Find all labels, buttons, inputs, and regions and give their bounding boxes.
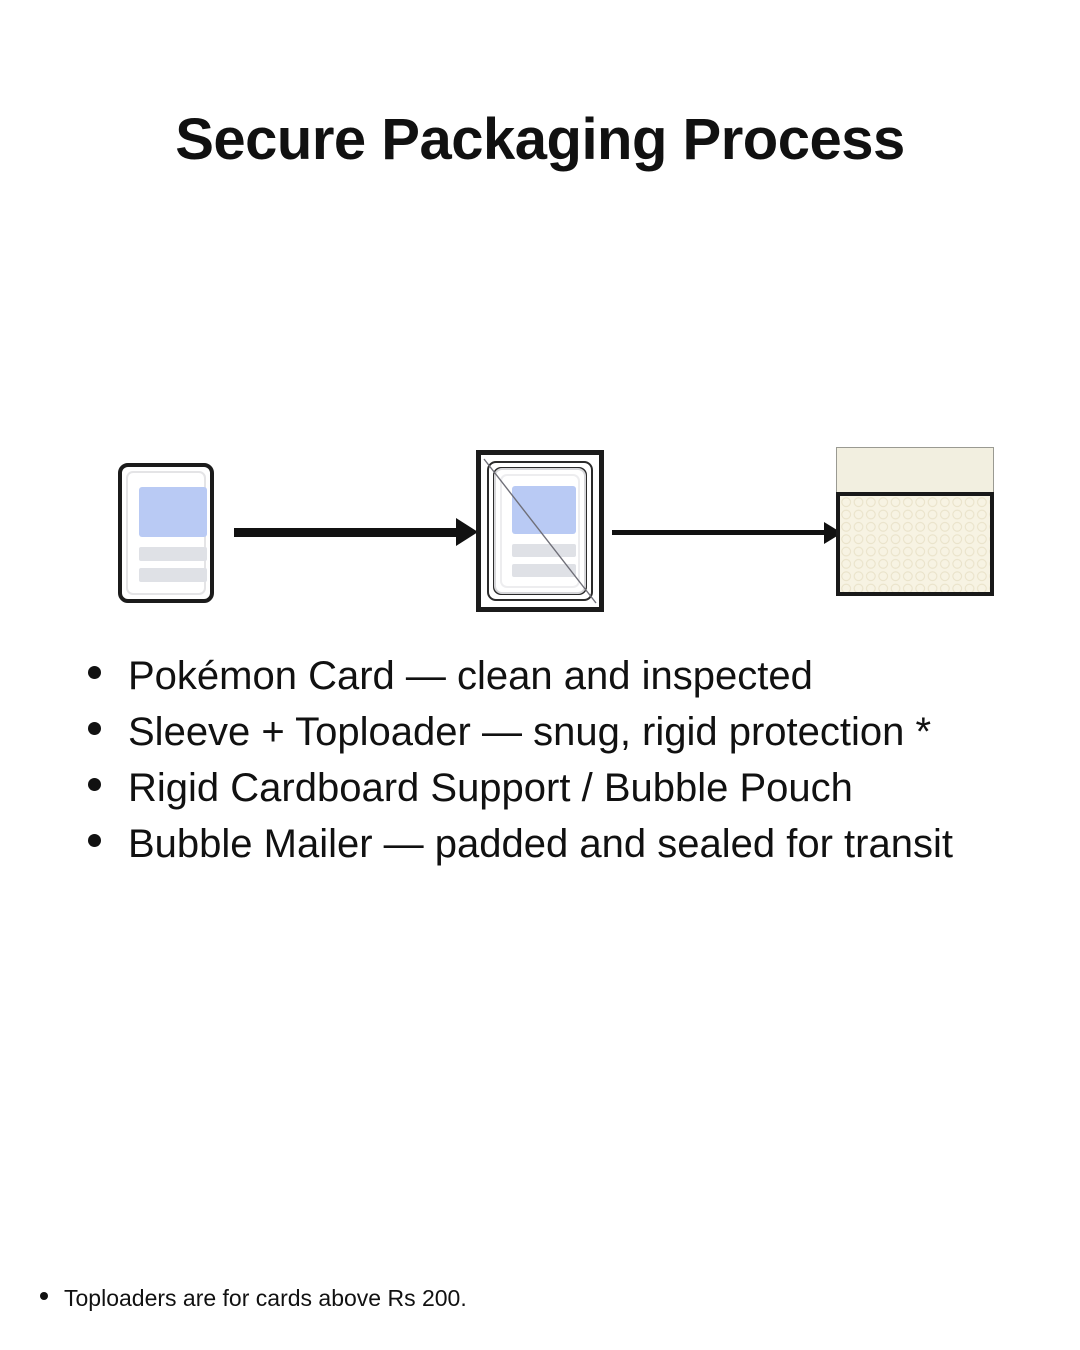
card-text-bar [512,544,576,557]
card-text-bar [139,568,207,582]
list-item: Bubble Mailer — padded and sealed for tr… [88,816,1048,872]
list-item: Sleeve + Toploader — snug, rigid protect… [88,704,1048,760]
card-text-bar [512,564,576,577]
packaging-steps-list: Pokémon Card — clean and inspected Sleev… [88,648,1048,872]
card-face [500,474,580,588]
list-item-label: Bubble Mailer — padded and sealed for tr… [128,816,953,872]
mailer-flap [836,447,994,493]
page-title: Secure Packaging Process [0,108,1080,172]
step-card-artwork [118,463,214,603]
bullet-dot-icon [88,834,101,847]
list-item-label: Pokémon Card — clean and inspected [128,648,813,704]
step-toploader-inner-card [494,468,586,594]
bullet-dot-icon [88,666,101,679]
card-image-block [512,486,576,534]
list-item: Pokémon Card — clean and inspected [88,648,1048,704]
arrow-one-shaft [234,528,462,537]
bullet-dot-icon [88,778,101,791]
bullet-dot-icon [88,722,101,735]
bubble-pattern-icon [840,496,990,595]
card-face [126,471,206,595]
arrow-two-shaft [612,530,830,535]
list-item: Rigid Cardboard Support / Bubble Pouch [88,760,1048,816]
arrow-one-head-icon [456,518,478,546]
list-item-label: Sleeve + Toploader — snug, rigid protect… [128,704,931,760]
footnote-label: Toploaders are for cards above Rs 200. [64,1283,467,1313]
footnote: Toploaders are for cards above Rs 200. [40,1283,467,1313]
card-image-block [139,487,207,537]
mailer-body [836,492,994,596]
list-item-label: Rigid Cardboard Support / Bubble Pouch [128,760,853,816]
bullet-dot-icon [40,1292,48,1300]
card-text-bar [139,547,207,561]
